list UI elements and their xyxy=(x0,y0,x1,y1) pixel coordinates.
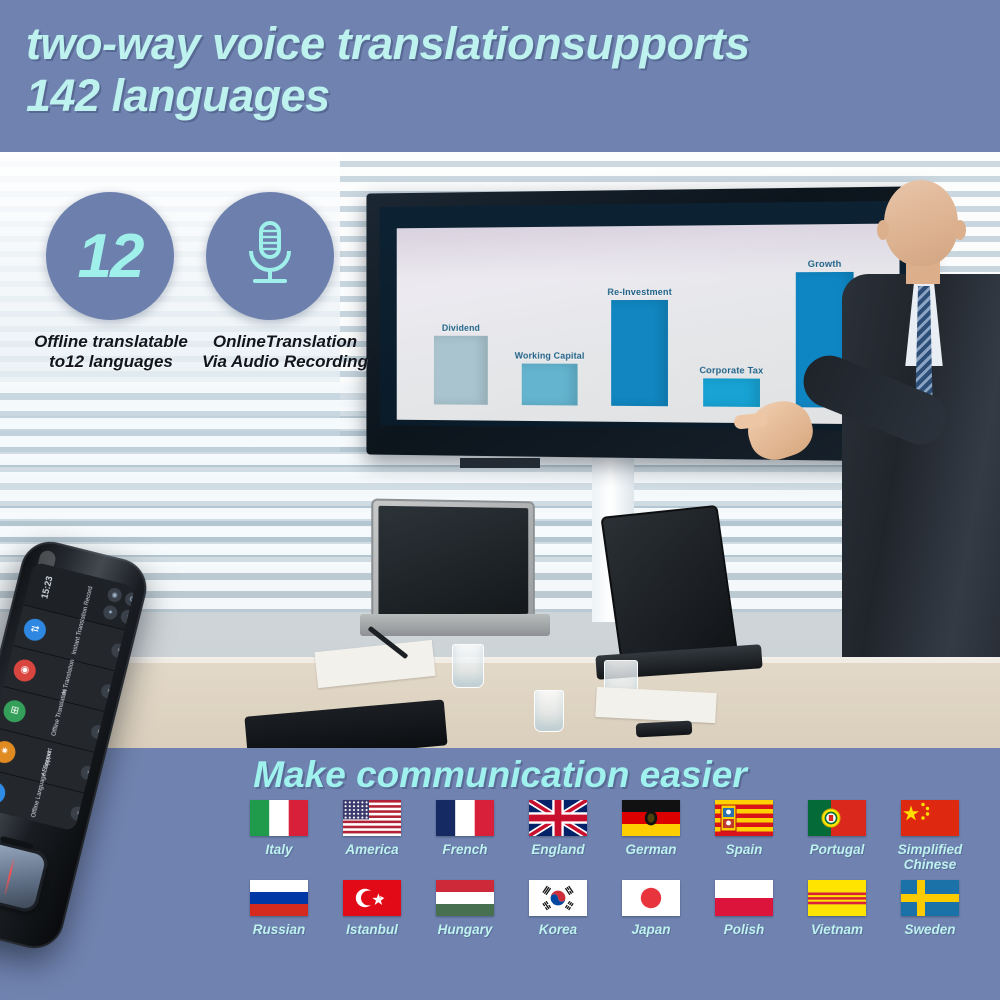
flag-cell[interactable]: Italy xyxy=(248,800,310,872)
menu-item-icon: ⇄ xyxy=(22,616,49,643)
flag-name: Spain xyxy=(726,842,763,857)
flag-row: RussianIstanbulHungaryKoreaJapanPolishVi… xyxy=(248,880,992,937)
bar-label: Corporate Tax xyxy=(699,365,763,375)
flag-name: England xyxy=(531,842,584,857)
flag-cell[interactable]: Portugal xyxy=(806,800,868,872)
presenter-ear-right xyxy=(954,220,966,240)
poland-flag xyxy=(715,880,773,916)
flag-name: Simplified Chinese xyxy=(898,842,963,872)
water-glass-1 xyxy=(452,644,484,688)
flag-row: ItalyAmericaFrenchEnglandGermanSpainPort… xyxy=(248,800,992,872)
turkey-flag xyxy=(343,880,401,916)
flag-cell[interactable]: Russian xyxy=(248,880,310,937)
microphone-icon xyxy=(241,219,299,294)
germany-flag xyxy=(622,800,680,836)
usa-flag xyxy=(343,800,401,836)
japan-flag xyxy=(622,880,680,916)
flag-name: Vietnam xyxy=(811,922,863,937)
feature-badge-online xyxy=(206,192,334,320)
presenter-person xyxy=(846,174,1000,674)
feature-caption-online-line1: OnlineTranslation xyxy=(180,332,390,352)
flag-name: French xyxy=(442,842,487,857)
headline-line-2: 142 languages xyxy=(26,70,966,122)
vietnam-flag xyxy=(808,880,866,916)
flag-cell[interactable]: Japan xyxy=(620,880,682,937)
menu-item-label: Offline Language Support xyxy=(31,788,45,819)
flag-name: Istanbul xyxy=(346,922,398,937)
flag-cell[interactable]: German xyxy=(620,800,682,872)
device-laser-line xyxy=(4,857,15,894)
mobile-phone xyxy=(636,721,693,738)
badge-number-12: 12 xyxy=(78,221,143,292)
flag-cell[interactable]: Istanbul xyxy=(341,880,403,937)
feature-caption-online-line2: Via Audio Recording xyxy=(180,352,390,372)
bar xyxy=(434,336,488,405)
feature-caption-online: OnlineTranslation Via Audio Recording xyxy=(180,332,390,372)
bar-group: Working Capital xyxy=(522,250,577,405)
flag-name: Portugal xyxy=(810,842,865,857)
bar-label: Working Capital xyxy=(515,351,585,361)
laptop-silver-base xyxy=(360,614,550,636)
bar-group: Corporate Tax xyxy=(703,249,760,407)
flag-cell[interactable]: Vietnam xyxy=(806,880,868,937)
presentation-screen: DividendWorking CapitalRe-InvestmentCorp… xyxy=(366,186,924,461)
flag-name: Sweden xyxy=(904,922,955,937)
presenter-ear-left xyxy=(877,220,889,240)
device-clock: 15:23 xyxy=(39,575,54,600)
page-title: two-way voice translationsupports 142 la… xyxy=(26,18,966,122)
flag-cell[interactable]: Hungary xyxy=(434,880,496,937)
menu-item-icon: ⊞ xyxy=(1,697,28,724)
flag-cell[interactable]: Simplified Chinese xyxy=(899,800,961,872)
screen-stand xyxy=(460,458,540,468)
sweden-flag xyxy=(901,880,959,916)
flag-name: Japan xyxy=(631,922,670,937)
flag-cell[interactable]: French xyxy=(434,800,496,872)
bar xyxy=(522,363,577,405)
bar-label: Re-Investment xyxy=(608,287,672,297)
laptop-silver-lid xyxy=(371,498,535,623)
laptop-silver-display xyxy=(378,506,528,616)
flag-name: America xyxy=(345,842,398,857)
bar xyxy=(703,378,760,407)
bar-label: Growth xyxy=(808,259,842,269)
wifi-icon[interactable]: ◉ xyxy=(106,587,123,604)
menu-item-label: Instant Translation Record xyxy=(72,625,86,656)
flag-name: German xyxy=(625,842,676,857)
flag-name: Korea xyxy=(539,922,577,937)
menu-item-label: Offline Translation xyxy=(51,706,65,737)
hungary-flag xyxy=(436,880,494,916)
flag-cell[interactable]: Sweden xyxy=(899,880,961,937)
spain-aragon-flag xyxy=(715,800,773,836)
feature-badge-offline: 12 xyxy=(46,192,174,320)
flag-cell[interactable]: America xyxy=(341,800,403,872)
product-marketing-image: two-way voice translationsupports 142 la… xyxy=(0,0,1000,1000)
flag-cell[interactable]: Polish xyxy=(713,880,775,937)
bar-group: Dividend xyxy=(434,251,488,405)
paper-sheet-2 xyxy=(595,687,716,723)
italy-flag xyxy=(250,800,308,836)
flag-cell[interactable]: England xyxy=(527,800,589,872)
bar-label: Dividend xyxy=(442,323,480,333)
flag-cell[interactable]: Spain xyxy=(713,800,775,872)
flag-name: Russian xyxy=(253,922,306,937)
france-flag xyxy=(436,800,494,836)
presenter-head xyxy=(884,180,958,266)
flag-cell[interactable]: Korea xyxy=(527,880,589,937)
korea-flag xyxy=(529,880,587,916)
menu-item-icon: ◉ xyxy=(12,657,39,684)
headline-line-1: two-way voice translationsupports xyxy=(26,18,750,69)
menu-item-icon: ✨ xyxy=(0,779,8,806)
bluetooth-icon[interactable]: ✦ xyxy=(102,604,119,621)
uk-flag xyxy=(529,800,587,836)
bar-group: Re-Investment xyxy=(612,250,668,406)
china-flag xyxy=(901,800,959,836)
flag-name: Hungary xyxy=(438,922,493,937)
header-banner: two-way voice translationsupports 142 la… xyxy=(0,0,1000,152)
russia-flag xyxy=(250,880,308,916)
portugal-flag xyxy=(808,800,866,836)
water-glass-3 xyxy=(534,690,564,732)
flag-name: Polish xyxy=(724,922,765,937)
flag-name: Italy xyxy=(265,842,292,857)
bar xyxy=(612,300,668,406)
language-flag-grid: ItalyAmericaFrenchEnglandGermanSpainPort… xyxy=(248,800,992,945)
menu-item-icon: ✷ xyxy=(0,738,18,765)
